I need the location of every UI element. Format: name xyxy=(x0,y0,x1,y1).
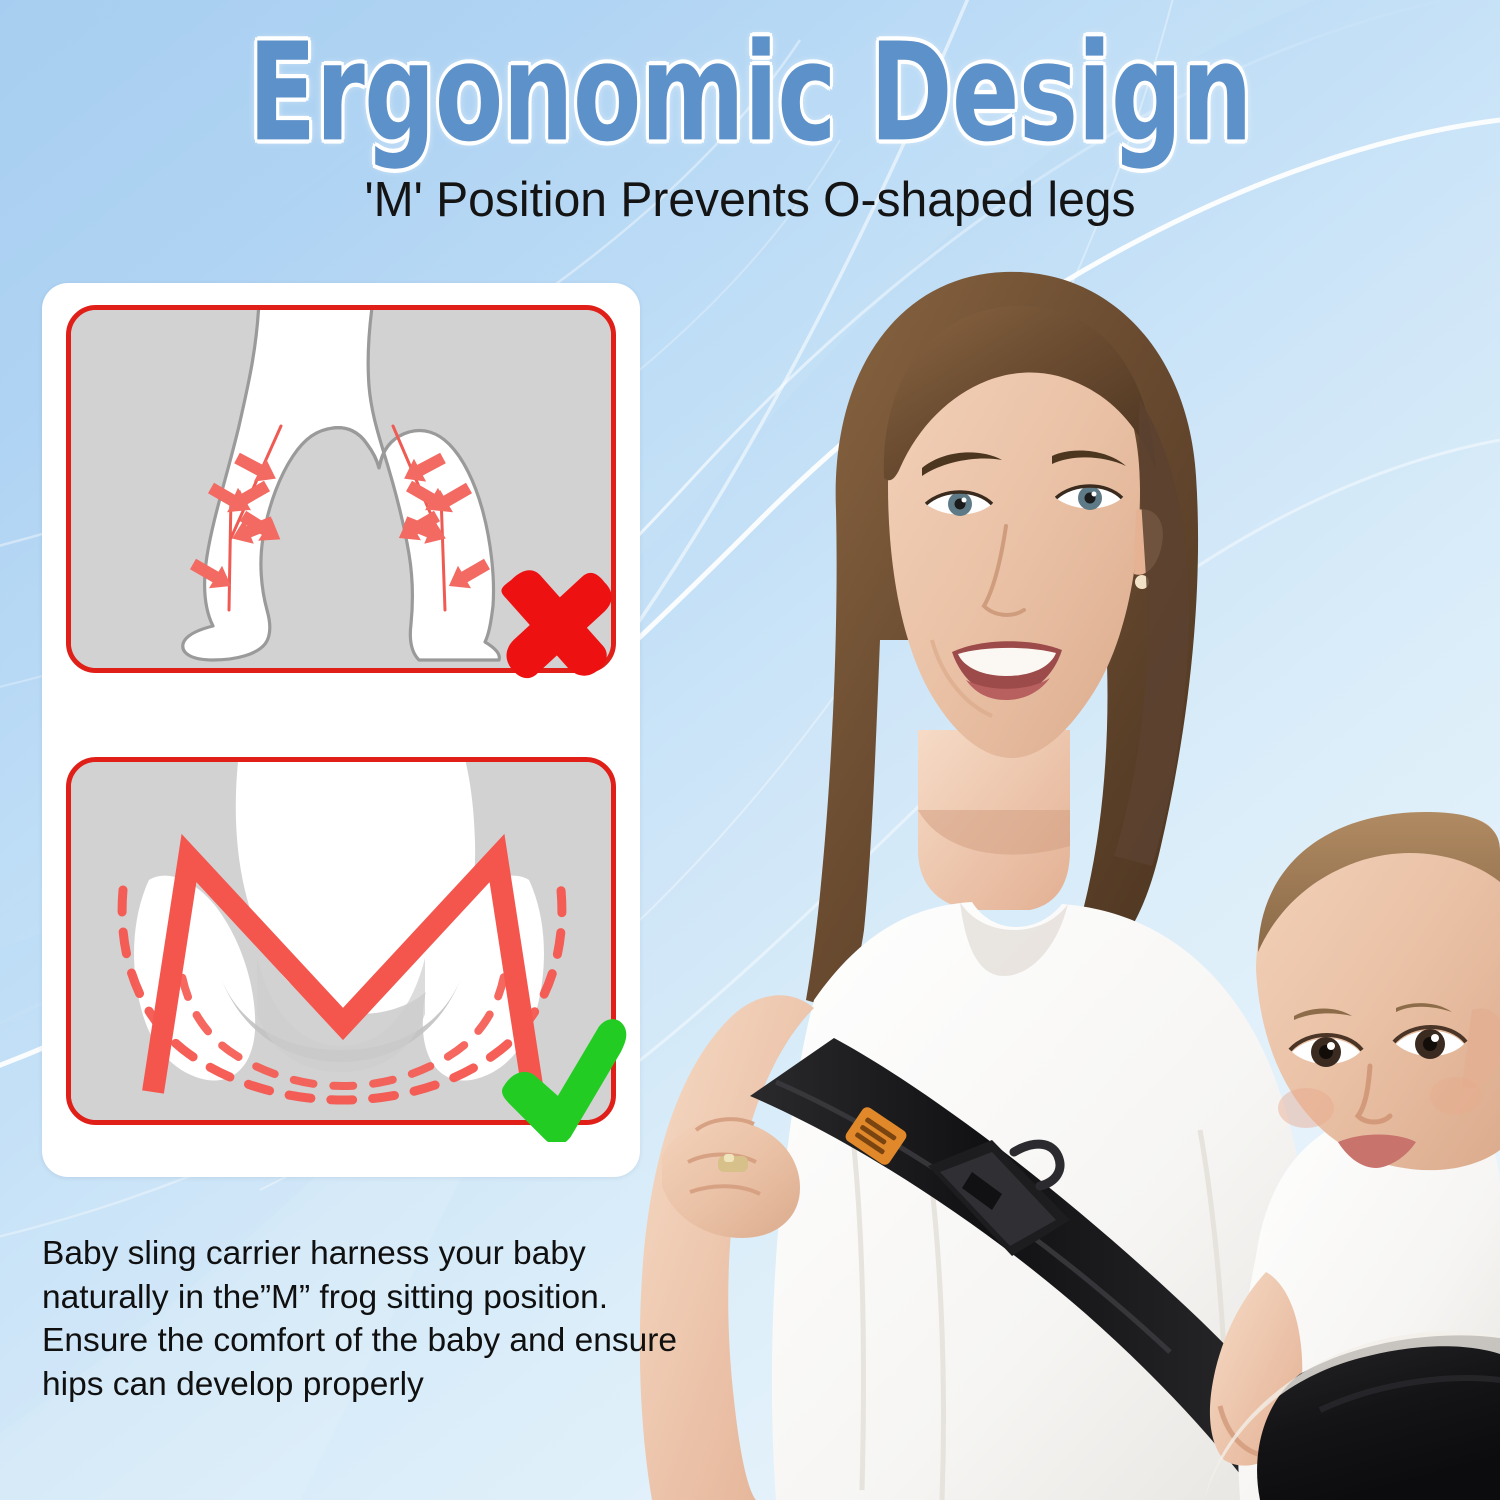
panel-incorrect-posture xyxy=(66,305,616,673)
panel-correct-posture xyxy=(66,757,616,1125)
diagram-card xyxy=(42,283,640,1177)
page-subtitle: 'M' Position Prevents O-shaped legs xyxy=(15,172,1485,228)
caption-text: Baby sling carrier harness your baby nat… xyxy=(42,1232,690,1406)
page-title: Ergonomic Design xyxy=(165,26,1335,162)
product-photo xyxy=(600,210,1500,1500)
header: Ergonomic Design 'M' Position Prevents O… xyxy=(0,0,1500,184)
product-feature-image: Ergonomic Design 'M' Position Prevents O… xyxy=(0,0,1500,1500)
